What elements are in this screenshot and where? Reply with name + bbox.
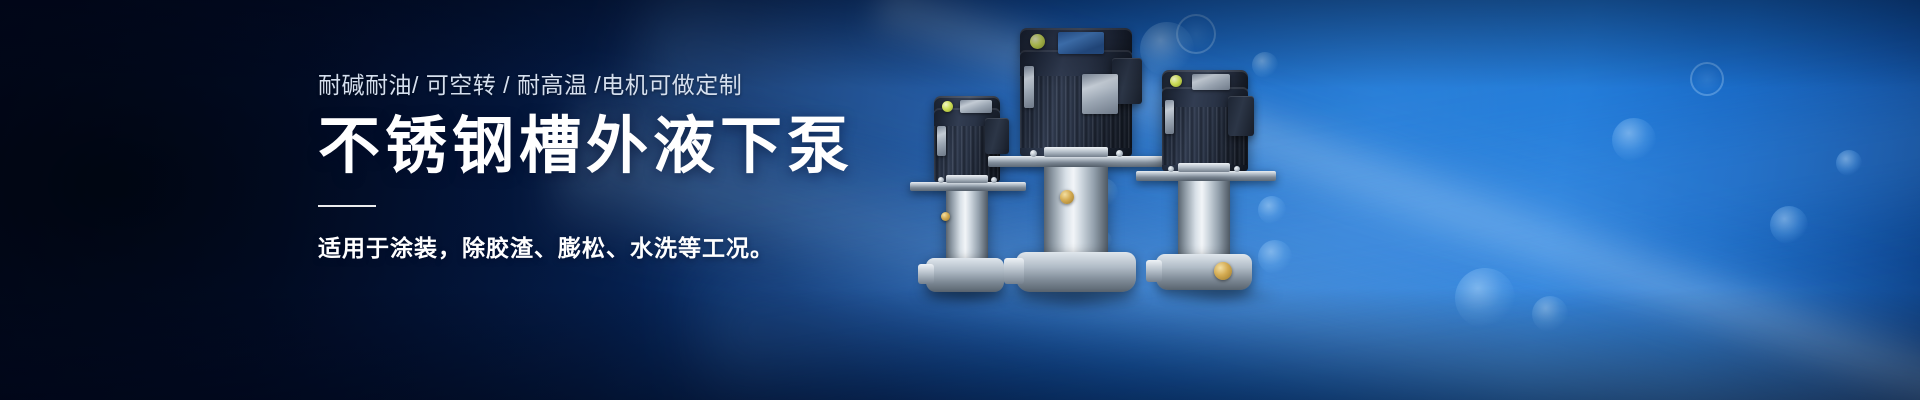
banner-divider-rule <box>318 205 376 207</box>
banner-copy-block: 耐碱耐油/ 可空转 / 耐高温 /电机可做定制 不锈钢槽外液下泵 适用于涂装，除… <box>318 72 1078 264</box>
banner-eyebrow: 耐碱耐油/ 可空转 / 耐高温 /电机可做定制 <box>318 72 1078 100</box>
banner-headline: 不锈钢槽外液下泵 <box>318 114 1078 180</box>
product-hero-banner: 耐碱耐油/ 可空转 / 耐高温 /电机可做定制 不锈钢槽外液下泵 适用于涂装，除… <box>0 0 1920 400</box>
banner-tagline: 适用于涂装，除胶渣、膨松、水洗等工况。 <box>318 233 1078 264</box>
